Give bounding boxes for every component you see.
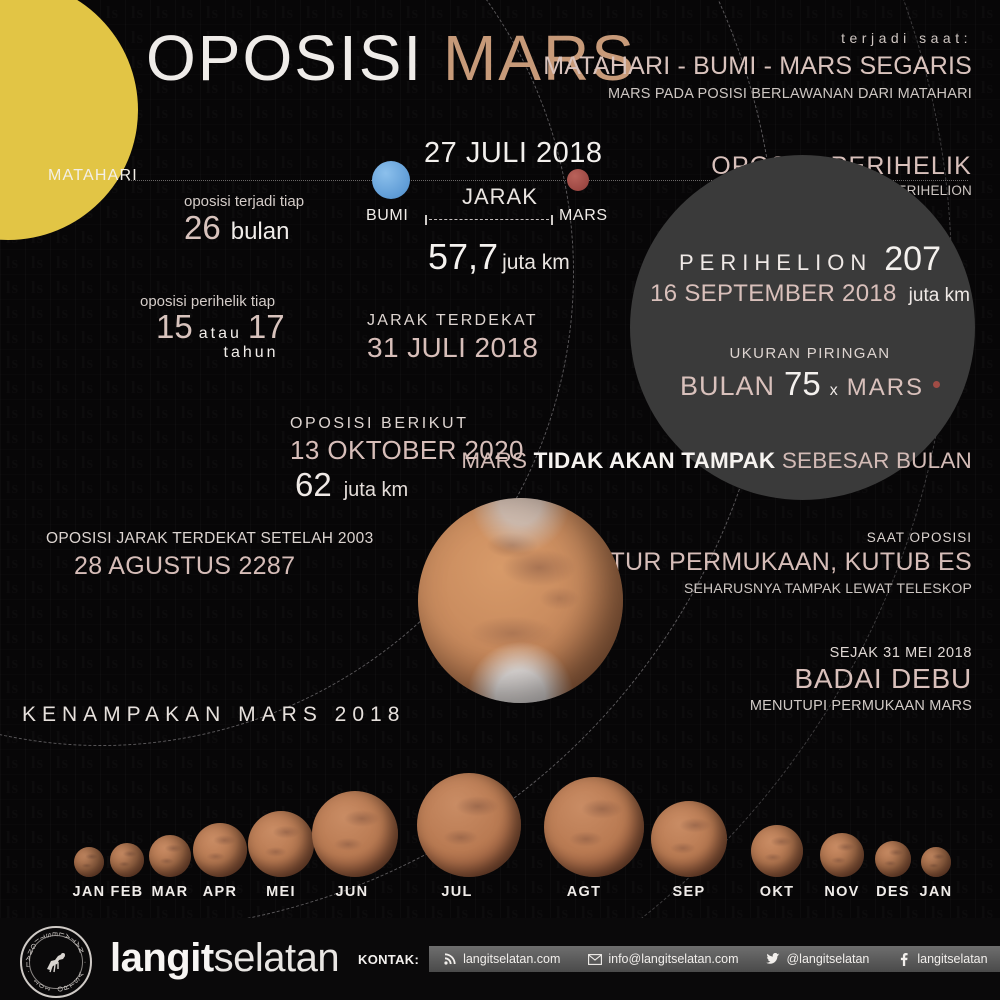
mars-disk-jan [921, 847, 951, 877]
header-line-2: MATAHARI - BUMI - MARS SEGARIS [543, 52, 972, 81]
mars-disk-sep [651, 801, 727, 877]
closest-distance-caption: JARAK TERDEKAT [367, 312, 538, 330]
distance-number: 57,7 [428, 236, 498, 278]
contact-facebook-text: langitselatan [917, 952, 987, 966]
opposition-interval-block: oposisi terjadi tiap 26 bulan [184, 193, 304, 247]
month-label: JUN [312, 884, 392, 900]
disk-size-multiplier: 75 [784, 365, 821, 403]
next-opposition-caption: OPOSISI BERIKUT [290, 415, 524, 433]
wordmark-thin: selatan [214, 936, 339, 980]
header-block: terjadi saat: MATAHARI - BUMI - MARS SEG… [543, 30, 972, 102]
mars-disk-jun [312, 791, 398, 877]
mars-label: MARS [559, 207, 608, 225]
footer-bar: LANGITSELATAN · ASTRO 101 · langitselata… [0, 918, 1000, 1000]
surface-features-headline: FITUR PERMUKAAN, KUTUB ES [587, 548, 972, 577]
logo-ring-text: LANGITSELATAN · ASTRO 101 · [14, 920, 98, 1000]
contact-website[interactable]: langitselatan.com [429, 946, 574, 972]
mail-icon [588, 952, 602, 966]
mars-planet-photo [418, 498, 623, 703]
closest-after-2003-block: OPOSISI JARAK TERDEKAT SETELAH 2003 28 A… [46, 530, 374, 581]
earth-label: BUMI [366, 207, 408, 225]
opposition-interval-number: 26 [184, 209, 221, 247]
distance-value-block: 57,7 juta km [428, 236, 570, 278]
month-item: MEI [241, 773, 321, 900]
opposition-date: 27 JULI 2018 [424, 137, 603, 170]
kontak-label: KONTAK: [358, 952, 429, 967]
perihelion-distance-number: 207 [884, 240, 941, 279]
mars-disk-agt [544, 777, 644, 877]
title-part-oposisi: OPOSISI [146, 22, 423, 94]
disk-size-moon-label: BULAN [680, 371, 775, 402]
statement-emphasis: TIDAK AKAN TAMPAK [534, 448, 776, 473]
contact-bar: KONTAK: langitselatan.com info@langitsel… [358, 946, 1000, 972]
sun-label: MATAHARI [48, 167, 138, 185]
contact-email-text: info@langitselatan.com [608, 952, 738, 966]
month-item: SEP [649, 773, 729, 900]
closest-after-2003-caption: OPOSISI JARAK TERDEKAT SETELAH 2003 [46, 530, 374, 548]
dust-storm-date: SEJAK 31 MEI 2018 [750, 645, 972, 661]
contact-twitter[interactable]: @langitselatan [752, 946, 883, 972]
header-line-1: terjadi saat: [543, 30, 972, 46]
dust-storm-block: SEJAK 31 MEI 2018 BADAI DEBU MENUTUPI PE… [750, 645, 972, 714]
perihelic-interval-block: oposisi perihelik tiap 15 atau 17 tahun [140, 293, 285, 362]
mars-disk-apr [193, 823, 247, 877]
langitselatan-logo-badge: LANGITSELATAN · ASTRO 101 · [20, 926, 92, 998]
month-item: AGT [544, 773, 624, 900]
contact-twitter-text: @langitselatan [786, 952, 869, 966]
mars-appearance-title: KENAMPAKAN MARS 2018 [22, 703, 405, 727]
disk-size-caption: UKURAN PIRINGAN [640, 345, 980, 362]
month-item: JUN [312, 773, 392, 900]
wordmark-bold: langit [110, 936, 214, 980]
next-opposition-block: OPOSISI BERIKUT 13 OKTOBER 2020 62 juta … [290, 415, 524, 504]
perihelion-distance-unit: juta km [909, 285, 970, 307]
disk-size-block: UKURAN PIRINGAN BULAN 75 x MARS [640, 345, 980, 403]
perihelion-date: 16 SEPTEMBER 2018 [650, 280, 897, 308]
perihelic-interval-conjunction: atau [199, 325, 242, 343]
rss-icon [443, 952, 457, 966]
contact-facebook[interactable]: langitselatan [883, 946, 1000, 972]
jarak-label: JARAK [462, 184, 538, 210]
perihelion-info-block: PERIHELION 207 16 SEPTEMBER 2018 juta km [640, 240, 980, 308]
twitter-icon [766, 952, 780, 966]
perihelic-interval-unit: tahun [140, 344, 285, 362]
month-label: SEP [649, 884, 729, 900]
next-opposition-unit: juta km [344, 479, 408, 502]
month-label: MEI [241, 884, 321, 900]
mars-disk-jul [417, 773, 521, 877]
contact-website-text: langitselatan.com [463, 952, 560, 966]
closest-after-2003-date: 28 AGUSTUS 2287 [46, 552, 374, 581]
perihelic-interval-number-2: 17 [248, 308, 285, 346]
closest-distance-block: JARAK TERDEKAT 31 JULI 2018 [367, 312, 538, 364]
contact-email[interactable]: info@langitselatan.com [574, 946, 752, 972]
infographic-poster: lslslslslslslslslslslslslslslslslslslsls… [0, 0, 1000, 1000]
disk-size-times-symbol: x [830, 382, 838, 400]
statement-suffix: SEBESAR BULAN [775, 448, 972, 473]
opposition-interval-unit: bulan [231, 218, 290, 246]
perihelion-word: PERIHELION [679, 250, 872, 276]
langitselatan-wordmark: langitselatan [110, 938, 339, 978]
closest-distance-date: 31 JULI 2018 [367, 332, 538, 364]
mars-disk-mei [248, 811, 314, 877]
surface-features-sub: SEHARUSNYA TAMPAK LEWAT TELESKOP [587, 580, 972, 596]
surface-features-block: SAAT OPOSISI FITUR PERMUKAAN, KUTUB ES S… [587, 530, 972, 596]
mars-disk-okt [751, 825, 803, 877]
mars-dot-graphic [567, 169, 589, 191]
perihelic-interval-number-1: 15 [156, 308, 193, 346]
month-label: AGT [544, 884, 624, 900]
next-opposition-distance: 62 [295, 466, 332, 504]
next-opposition-date: 13 OKTOBER 2020 [290, 435, 524, 466]
mars-size-dot-icon [933, 381, 940, 388]
month-label: JAN [896, 884, 976, 900]
month-item: JUL [417, 773, 497, 900]
month-label: JUL [417, 884, 497, 900]
mars-monthly-size-chart: JANFEBMARAPRMEIJUNJULAGTSEPOKTNOVDESJAN [0, 760, 1000, 900]
dust-storm-sub: MENUTUPI PERMUKAAN MARS [750, 698, 972, 714]
dust-storm-headline: BADAI DEBU [750, 663, 972, 695]
mars-not-as-big-statement: MARS TIDAK AKAN TAMPAK SEBESAR BULAN [461, 448, 972, 474]
facebook-icon [897, 952, 911, 966]
disk-size-mars-label: MARS [847, 374, 924, 402]
earth-graphic [372, 161, 410, 199]
month-item: JAN [896, 773, 976, 900]
distance-unit: juta km [502, 251, 570, 275]
opposition-interval-caption: oposisi terjadi tiap [184, 193, 304, 210]
surface-features-caption: SAAT OPOSISI [587, 530, 972, 545]
distance-measure-bar [425, 215, 553, 225]
header-line-3: MARS PADA POSISI BERLAWANAN DARI MATAHAR… [543, 86, 972, 102]
